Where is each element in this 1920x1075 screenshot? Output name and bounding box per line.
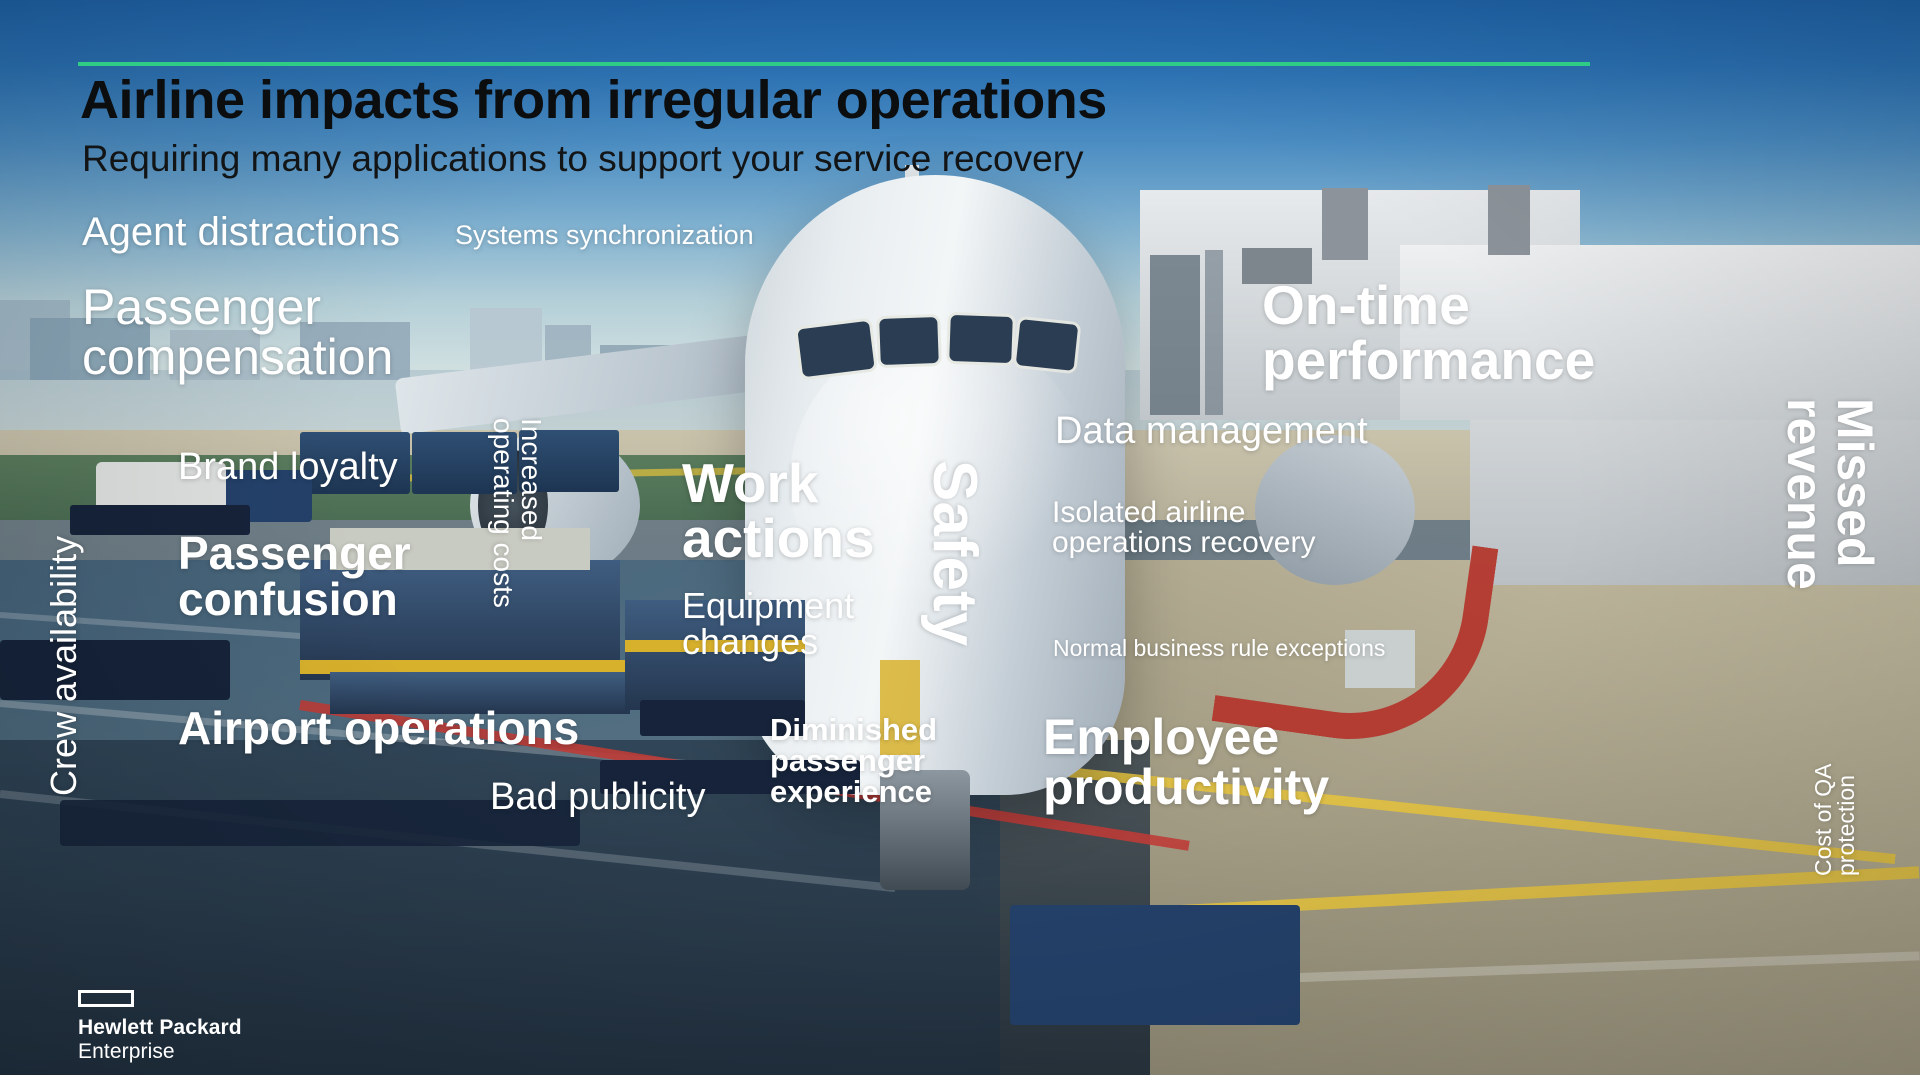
wordcloud-label-systems-synchronization: Systems synchronization [455,222,754,249]
wordcloud-label-agent-distractions: Agent distractions [82,212,400,252]
wordcloud-label-bad-publicity: Bad publicity [490,778,705,816]
wordcloud-label-isolated-airline-ops: Isolated airline operations recovery [1052,498,1315,558]
wordcloud-label-equipment-changes: Equipment changes [682,588,854,660]
wordcloud-label-passenger-compensation: Passenger compensation [82,282,393,382]
wordcloud-label-data-management: Data management [1055,412,1368,450]
wordcloud-label-brand-loyalty: Brand loyalty [178,448,398,486]
hpe-logo: Hewlett Packard Enterprise [78,990,242,1063]
wordcloud-label-work-actions: Work actions [682,456,875,566]
wordcloud-label-employee-productivity: Employee productivity [1043,712,1329,812]
wordcloud-label-normal-business-rule: Normal business rule exceptions [1053,637,1385,660]
wordcloud-label-crew-availability: Crew availability [46,536,82,796]
wordcloud-label-increased-operating-costs: Increased operating costs [489,418,545,608]
accent-rule [78,62,1590,66]
wordcloud-label-airport-operations: Airport operations [178,705,579,751]
wordcloud-label-safety: Safety [923,460,985,646]
wordcloud-label-on-time-performance: On-time performance [1262,278,1595,388]
hpe-rectangle-mark-icon [78,990,134,1007]
logo-line-1: Hewlett Packard [78,1016,242,1040]
slide-canvas: Airline impacts from irregular operation… [0,0,1920,1075]
page-subtitle: Requiring many applications to support y… [82,140,1084,179]
wordcloud-label-cost-of-qa-protection: Cost of QA protection [1812,764,1858,876]
wordcloud-label-missed-revenue: Missed revenue [1780,398,1880,590]
wordcloud-label-passenger-confusion: Passenger confusion [178,530,411,622]
page-title: Airline impacts from irregular operation… [80,72,1107,129]
wordcloud-label-diminished-passenger-exp: Diminished passenger experience [770,714,937,807]
logo-line-2: Enterprise [78,1040,242,1064]
